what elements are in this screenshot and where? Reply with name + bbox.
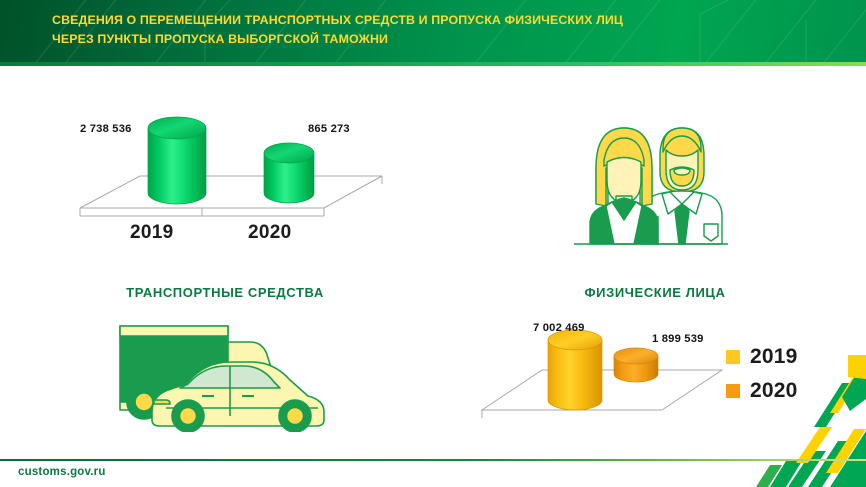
persons-section-label: ФИЗИЧЕСКИЕ ЛИЦА [490, 285, 820, 300]
vehicles-year-2020: 2020 [248, 222, 291, 244]
persons-value-2019: 7 002 469 [533, 322, 585, 334]
vehicles-value-2019: 2 738 536 [80, 123, 132, 135]
bar-2019-persons [548, 330, 602, 410]
header-underline [0, 62, 866, 66]
footer-site-link[interactable]: customs.gov.ru [18, 466, 106, 478]
two-people-icon [560, 108, 740, 258]
page-header: СВЕДЕНИЯ О ПЕРЕМЕЩЕНИИ ТРАНСПОРТНЫХ СРЕД… [0, 0, 866, 62]
legend-item-2020[interactable]: 2020 [726, 374, 836, 408]
vehicles-value-2020: 865 273 [308, 123, 350, 135]
truck-and-car-icon [92, 312, 342, 432]
legend-label-2019: 2019 [750, 345, 798, 369]
chart-legend: 2019 2020 [726, 340, 836, 408]
vehicles-section-label: ТРАНСПОРТНЫЕ СРЕДСТВА [60, 285, 390, 300]
bar-2020-vehicles [264, 143, 314, 203]
bar-2019-vehicles [148, 117, 206, 204]
chart-base-plane [80, 176, 382, 216]
page-title: СВЕДЕНИЯ О ПЕРЕМЕЩЕНИИ ТРАНСПОРТНЫХ СРЕД… [52, 11, 752, 49]
legend-item-2019[interactable]: 2019 [726, 340, 836, 374]
footer-divider [0, 459, 866, 461]
persons-value-2020: 1 899 539 [652, 333, 704, 345]
legend-swatch-2020-icon [726, 384, 740, 398]
bar-2020-persons [614, 348, 658, 382]
vehicles-year-2019: 2019 [130, 222, 173, 244]
legend-swatch-2019-icon [726, 350, 740, 364]
legend-label-2020: 2020 [750, 379, 798, 403]
